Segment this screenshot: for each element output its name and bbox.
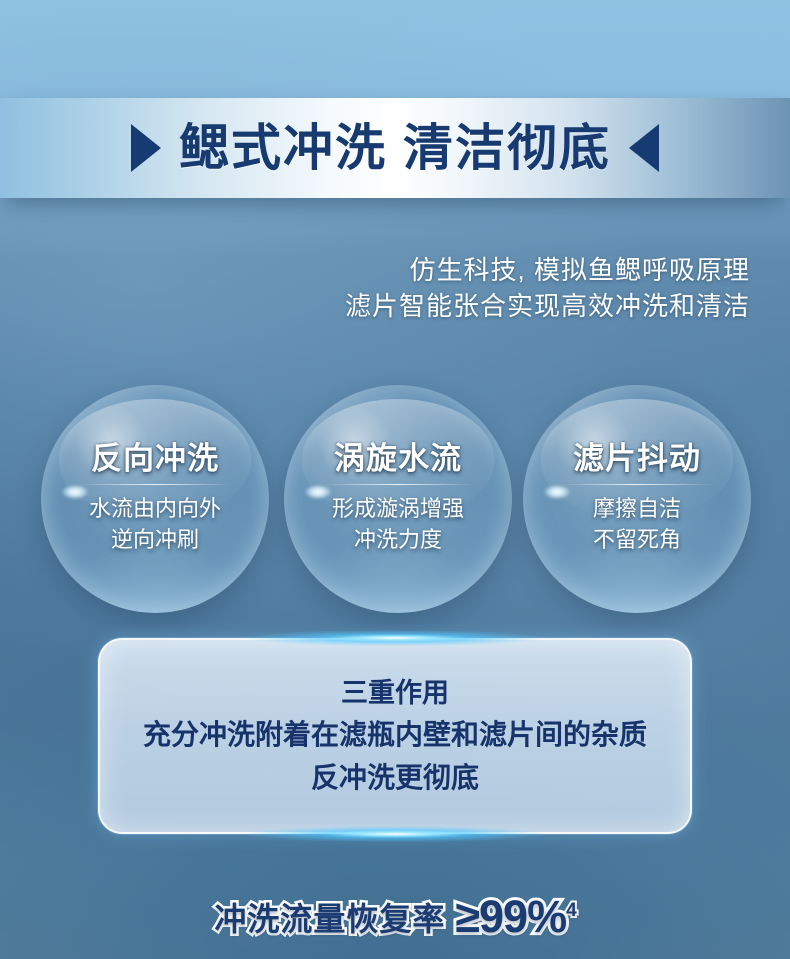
summary-panel-text: 三重作用 充分冲洗附着在滤瓶内壁和滤片间的杂质 反冲洗更彻底 [98,638,692,834]
subtitle-line-2: 滤片智能张合实现高效冲洗和清洁 [30,288,750,324]
feature-bubble-content: 滤片抖动 摩擦自洁 不留死角 [523,385,751,613]
feature-bubble: 涡旋水流 形成漩涡增强 冲洗力度 [284,385,512,613]
footer-claim-label: 冲洗流量恢复率 [214,894,445,940]
feature-bubble-group: 反向冲洗 水流由内向外 逆向冲刷 涡旋水流 形成漩涡增强 冲洗力度 滤片抖动 [0,385,790,613]
feature-bubble-desc: 水流由内向外 逆向冲刷 [89,493,221,555]
feature-bubble-desc-line-1: 水流由内向外 [89,493,221,524]
feature-bubble-desc-line-2: 不留死角 [593,524,681,555]
promo-page: 鳃式冲洗 清洁彻底 仿生科技, 模拟鱼鳃呼吸原理 滤片智能张合实现高效冲洗和清洁… [0,0,790,959]
feature-bubble-desc-line-2: 逆向冲刷 [89,524,221,555]
triangle-left-icon [629,124,659,172]
feature-bubble: 滤片抖动 摩擦自洁 不留死角 [523,385,751,613]
header-banner: 鳃式冲洗 清洁彻底 [0,98,790,198]
header-banner-content: 鳃式冲洗 清洁彻底 [0,98,790,198]
triangle-right-icon [131,124,161,172]
summary-line-3: 反冲洗更彻底 [311,758,479,798]
feature-bubble-desc-line-2: 冲洗力度 [332,524,464,555]
divider [562,484,712,485]
summary-line-2: 充分冲洗附着在滤瓶内壁和滤片间的杂质 [143,715,647,755]
feature-bubble: 反向冲洗 水流由内向外 逆向冲刷 [41,385,269,613]
feature-bubble-desc: 形成漩涡增强 冲洗力度 [332,493,464,555]
feature-bubble-title: 反向冲洗 [91,443,219,476]
feature-bubble-desc: 摩擦自洁 不留死角 [593,493,681,555]
feature-bubble-title: 涡旋水流 [334,443,462,476]
subtitle-block: 仿生科技, 模拟鱼鳃呼吸原理 滤片智能张合实现高效冲洗和清洁 [30,252,750,324]
divider [323,484,473,485]
subtitle-line-1: 仿生科技, 模拟鱼鳃呼吸原理 [30,252,750,288]
feature-bubble-desc-line-1: 形成漩涡增强 [332,493,464,524]
feature-bubble-title: 滤片抖动 [573,443,701,476]
summary-panel-wrapper: 三重作用 充分冲洗附着在滤瓶内壁和滤片间的杂质 反冲洗更彻底 [98,638,692,834]
feature-bubble-content: 反向冲洗 水流由内向外 逆向冲刷 [41,385,269,613]
divider [80,484,230,485]
footer-claim-value: ≥99%4 [455,891,575,943]
feature-bubble-desc-line-1: 摩擦自洁 [593,493,681,524]
footer-claim-superscript: 4 [566,900,576,921]
footer-claim: 冲洗流量恢复率 ≥99%4 [0,886,790,948]
footer-claim-number: ≥99% [455,891,566,942]
summary-line-1: 三重作用 [341,674,449,712]
page-title: 鳃式冲洗 清洁彻底 [179,123,611,173]
feature-bubble-content: 涡旋水流 形成漩涡增强 冲洗力度 [284,385,512,613]
